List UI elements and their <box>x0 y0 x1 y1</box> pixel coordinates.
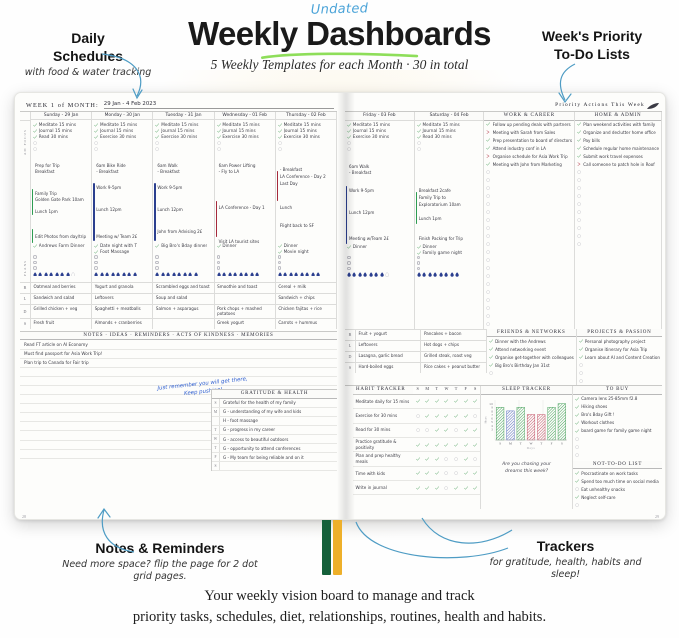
water-drop-empty-icon[interactable] <box>385 272 389 277</box>
empty-circle-icon[interactable] <box>155 255 159 259</box>
priority-item[interactable] <box>484 281 574 289</box>
empty-circle-icon[interactable] <box>217 266 221 270</box>
projects-item[interactable]: Organise itinerary for Asia Trip <box>577 345 662 353</box>
priority-item[interactable] <box>484 257 574 265</box>
empty-circle-icon[interactable] <box>486 170 490 174</box>
empty-circle-icon[interactable] <box>486 226 490 230</box>
priority-item[interactable] <box>575 225 661 233</box>
priority-item[interactable] <box>484 273 574 281</box>
habit-name[interactable]: Write in journal <box>353 485 413 491</box>
water-drop-icon[interactable] <box>55 272 59 277</box>
empty-circle-icon[interactable] <box>577 242 581 246</box>
empty-circle-icon[interactable] <box>486 266 490 270</box>
habit-check-cell[interactable] <box>461 486 471 490</box>
meal-cell[interactable]: Pancakes + bacon <box>421 330 486 340</box>
day-header[interactable]: Monday - 30 Jan <box>92 112 152 121</box>
day-schedule[interactable]: 6am Power Lifting- Fly to LALA Conferenc… <box>215 161 275 253</box>
empty-circle-icon[interactable] <box>486 242 490 246</box>
habit-check-cell[interactable] <box>432 399 442 403</box>
day-schedule[interactable]: - BreakfastLA Conference - Day 2Last Day… <box>276 161 336 253</box>
priority-item[interactable]: Pay bills <box>575 137 661 145</box>
gratitude-text[interactable]: G - access to beautiful outdoors <box>220 435 337 443</box>
empty-circle-icon[interactable] <box>575 487 579 491</box>
habit-check-cell[interactable] <box>422 428 432 432</box>
to-buy-item[interactable]: Camera lens 25-85mm f2.8 <box>573 395 662 403</box>
habit-check-cell[interactable] <box>413 399 423 403</box>
habit-name[interactable]: Time with kids <box>353 471 413 477</box>
priority-item[interactable]: Follow up pending deals with partners <box>484 121 574 129</box>
habit-check-cell[interactable] <box>442 399 452 403</box>
priority-item[interactable] <box>484 265 574 273</box>
water-drop-icon[interactable] <box>428 272 432 277</box>
meal-cell[interactable] <box>153 319 214 329</box>
water-tracker-row[interactable] <box>278 272 334 277</box>
empty-circle-icon[interactable] <box>94 255 98 259</box>
habit-check-cell[interactable] <box>451 443 461 447</box>
water-drop-icon[interactable] <box>38 272 42 277</box>
not-to-do-item[interactable] <box>573 501 662 509</box>
empty-circle-icon[interactable] <box>416 428 420 432</box>
empty-circle-icon[interactable] <box>278 255 282 259</box>
habit-check-cell[interactable] <box>422 471 432 475</box>
water-drop-icon[interactable] <box>49 272 53 277</box>
habit-check-cell[interactable] <box>461 428 471 432</box>
meal-cell[interactable]: Grilled chicken + veg <box>31 305 92 318</box>
priority-item[interactable] <box>484 209 574 217</box>
to-buy-item[interactable] <box>573 443 662 451</box>
priority-item[interactable] <box>575 193 661 201</box>
priority-item[interactable] <box>575 209 661 217</box>
empty-circle-icon[interactable] <box>278 141 282 145</box>
friends-item[interactable]: Organise get-together with colleagues <box>487 353 576 361</box>
empty-circle-icon[interactable] <box>417 141 421 145</box>
task-item[interactable] <box>278 146 334 152</box>
empty-circle-icon[interactable] <box>486 250 490 254</box>
day-schedule[interactable]: Breakfast 2cafeFamily Trip toExploratori… <box>415 162 484 254</box>
empty-circle-icon[interactable] <box>577 202 581 206</box>
priority-item[interactable] <box>575 177 661 185</box>
water-tracker-row[interactable] <box>347 272 412 277</box>
circle-row[interactable] <box>33 265 89 271</box>
water-tracker-row[interactable] <box>33 272 89 277</box>
habit-check-cell[interactable] <box>461 399 471 403</box>
day-header[interactable]: Sunday - 29 Jan <box>31 112 91 121</box>
empty-circle-icon[interactable] <box>217 255 221 259</box>
habit-check-cell[interactable] <box>451 457 461 461</box>
water-drop-icon[interactable] <box>289 272 293 277</box>
meal-cell[interactable]: Lasagna, garlic bread <box>356 352 421 362</box>
empty-circle-icon[interactable] <box>577 186 581 190</box>
meal-cell[interactable]: Oatmeal and berries <box>31 283 92 293</box>
empty-circle-icon[interactable] <box>486 258 490 262</box>
water-drop-icon[interactable] <box>305 272 309 277</box>
habit-check-cell[interactable] <box>413 414 423 418</box>
habit-check-cell[interactable] <box>442 486 452 490</box>
empty-circle-icon[interactable] <box>278 266 282 270</box>
note-line[interactable]: Must find passport for Asia Work Trip! <box>20 350 337 359</box>
meal-cell[interactable]: Fruit + yogurt <box>356 330 421 340</box>
habit-check-cell[interactable] <box>470 428 480 432</box>
circle-row[interactable] <box>94 265 150 271</box>
gratitude-text[interactable] <box>220 462 337 470</box>
empty-circle-icon[interactable] <box>486 234 490 238</box>
note-line[interactable]: Read FT article on AI Economy <box>20 340 337 349</box>
water-drop-icon[interactable] <box>380 272 384 277</box>
habit-check-cell[interactable] <box>422 399 432 403</box>
empty-circle-icon[interactable] <box>486 298 490 302</box>
day-schedule[interactable]: Prep for TripBreakfastFamily TripGolden … <box>31 161 91 253</box>
empty-circle-icon[interactable] <box>454 457 458 461</box>
empty-circle-icon[interactable] <box>577 170 581 174</box>
water-drop-icon[interactable] <box>374 272 378 277</box>
meal-cell[interactable]: Grilled steak, roast veg <box>421 352 486 362</box>
priority-item[interactable]: Schedule regular home maintenance <box>575 145 661 153</box>
meal-cell[interactable]: Hot dogs + chips <box>421 341 486 351</box>
empty-circle-icon[interactable] <box>416 414 420 418</box>
priority-item[interactable] <box>484 305 574 313</box>
habit-check-cell[interactable] <box>432 486 442 490</box>
water-drop-icon[interactable] <box>278 272 282 277</box>
gratitude-text[interactable]: G - opportunity to attend conferences <box>220 444 337 452</box>
empty-circle-icon[interactable] <box>575 445 579 449</box>
to-buy-item[interactable] <box>573 435 662 443</box>
water-drop-icon[interactable] <box>116 272 120 277</box>
projects-item[interactable]: Personal photography project <box>577 337 662 345</box>
water-drop-icon[interactable] <box>177 272 181 277</box>
empty-circle-icon[interactable] <box>444 471 448 475</box>
habit-check-cell[interactable] <box>470 399 480 403</box>
water-drop-icon[interactable] <box>250 272 254 277</box>
empty-circle-icon[interactable] <box>579 371 583 375</box>
priority-item[interactable] <box>484 321 574 329</box>
empty-circle-icon[interactable] <box>347 261 351 265</box>
empty-circle-icon[interactable] <box>577 194 581 198</box>
water-drop-icon[interactable] <box>194 272 198 277</box>
priority-item[interactable]: Attend industry conf in LA <box>484 145 574 153</box>
not-to-do-item[interactable]: Procrastinate on work tasks <box>573 469 662 477</box>
habit-name[interactable]: Plan and prep healthy meals <box>353 453 413 464</box>
water-drop-icon[interactable] <box>352 272 356 277</box>
empty-circle-icon[interactable] <box>417 147 421 151</box>
circle-row[interactable] <box>155 265 211 271</box>
water-drop-icon[interactable] <box>44 272 48 277</box>
water-drop-icon[interactable] <box>316 272 320 277</box>
day-header[interactable]: Wednesday - 01 Feb <box>215 112 275 121</box>
water-tracker-row[interactable] <box>217 272 273 277</box>
meal-cell[interactable]: Salmon + asparagus <box>153 305 214 318</box>
empty-circle-icon[interactable] <box>486 202 490 206</box>
gratitude-text[interactable]: G - understanding of my wife and kids <box>220 408 337 416</box>
water-drop-icon[interactable] <box>294 272 298 277</box>
meal-cell[interactable]: Rice cakes + peanut butter <box>421 363 486 373</box>
not-to-do-item[interactable]: Neglect self-care <box>573 493 662 501</box>
empty-circle-icon[interactable] <box>155 266 159 270</box>
empty-circle-icon[interactable] <box>473 414 477 418</box>
water-drop-icon[interactable] <box>217 272 221 277</box>
water-tracker-row[interactable] <box>155 272 211 277</box>
projects-item[interactable] <box>577 369 662 377</box>
meal-cell[interactable]: Smoothie and toast <box>215 283 276 293</box>
friends-item[interactable]: Dinner with the Andrews <box>487 337 576 345</box>
empty-circle-icon[interactable] <box>486 178 490 182</box>
day-schedule[interactable]: 6am Walk- BreakfastWork 9-5pmLunch 12pmM… <box>345 162 414 254</box>
water-drop-icon[interactable] <box>233 272 237 277</box>
meal-cell[interactable]: Almonds + cranberries <box>92 319 153 329</box>
water-drop-icon[interactable] <box>239 272 243 277</box>
priority-item[interactable] <box>484 297 574 305</box>
empty-circle-icon[interactable] <box>486 194 490 198</box>
water-drop-icon[interactable] <box>244 272 248 277</box>
habit-check-cell[interactable] <box>432 428 442 432</box>
water-drop-icon[interactable] <box>111 272 115 277</box>
empty-circle-icon[interactable] <box>155 261 159 265</box>
priority-item[interactable] <box>484 249 574 257</box>
water-drop-icon[interactable] <box>60 272 64 277</box>
meal-cell[interactable]: Yogurt and granola <box>92 283 153 293</box>
empty-circle-icon[interactable] <box>486 306 490 310</box>
water-drop-icon[interactable] <box>283 272 287 277</box>
priority-item[interactable] <box>484 193 574 201</box>
water-drop-icon[interactable] <box>444 272 448 277</box>
note-line[interactable] <box>20 368 337 377</box>
gratitude-text[interactable]: H - foot massage <box>220 417 337 425</box>
empty-circle-icon[interactable] <box>347 267 351 271</box>
water-drop-icon[interactable] <box>188 272 192 277</box>
meal-cell[interactable]: Scrambled eggs and toast <box>153 283 214 293</box>
empty-circle-icon[interactable] <box>577 234 581 238</box>
empty-circle-icon[interactable] <box>417 256 421 260</box>
meal-cell[interactable]: Leftovers <box>92 294 153 304</box>
day-schedule[interactable]: 6am Bike Ride- BreakfastWork 9-5pmLunch … <box>92 161 152 253</box>
habit-check-cell[interactable] <box>432 471 442 475</box>
empty-circle-icon[interactable] <box>33 255 37 259</box>
circle-row[interactable] <box>217 265 273 271</box>
priority-item[interactable] <box>575 201 661 209</box>
projects-item[interactable] <box>577 361 662 369</box>
evening-task[interactable]: Dinner <box>347 244 367 250</box>
priority-item[interactable] <box>484 185 574 193</box>
empty-circle-icon[interactable] <box>94 261 98 265</box>
to-buy-item[interactable]: Bro's Bday Gift ! <box>573 411 662 419</box>
empty-circle-icon[interactable] <box>577 218 581 222</box>
empty-circle-icon[interactable] <box>486 282 490 286</box>
meal-cell[interactable]: Leftovers <box>356 341 421 351</box>
water-drop-icon[interactable] <box>33 272 37 277</box>
empty-circle-icon[interactable] <box>579 379 583 383</box>
water-drop-icon[interactable] <box>127 272 131 277</box>
empty-circle-icon[interactable] <box>94 266 98 270</box>
habit-check-cell[interactable] <box>470 486 480 490</box>
water-drop-icon[interactable] <box>222 272 226 277</box>
meal-cell[interactable]: Greek yogurt <box>215 319 276 329</box>
friends-item[interactable] <box>487 369 576 377</box>
empty-circle-icon[interactable] <box>417 267 421 271</box>
water-drop-icon[interactable] <box>358 272 362 277</box>
habit-check-cell[interactable] <box>451 414 461 418</box>
water-drop-icon[interactable] <box>255 272 259 277</box>
empty-circle-icon[interactable] <box>33 261 37 265</box>
priority-item[interactable] <box>484 233 574 241</box>
day-schedule[interactable]: 6am Walk- BreakfastWork 9-5pmLunch 12pmJ… <box>153 161 213 253</box>
empty-circle-icon[interactable] <box>155 147 159 151</box>
empty-circle-icon[interactable] <box>33 141 37 145</box>
habit-check-cell[interactable] <box>442 457 452 461</box>
water-drop-icon[interactable] <box>363 272 367 277</box>
empty-circle-icon[interactable] <box>575 503 579 507</box>
empty-circle-icon[interactable] <box>577 178 581 182</box>
water-drop-icon[interactable] <box>100 272 104 277</box>
empty-circle-icon[interactable] <box>486 314 490 318</box>
empty-circle-icon[interactable] <box>577 210 581 214</box>
meal-cell[interactable] <box>215 294 276 304</box>
task-item[interactable] <box>155 146 211 152</box>
gratitude-text[interactable]: G - My team for being reliable and on it <box>220 453 337 461</box>
not-to-do-item[interactable]: Spend too much time on social media <box>573 477 662 485</box>
habit-check-cell[interactable] <box>451 471 461 475</box>
priority-item[interactable] <box>575 217 661 225</box>
evening-task[interactable]: Big Bro's Bday dinner <box>155 243 207 249</box>
habit-check-cell[interactable] <box>461 457 471 461</box>
habit-check-cell[interactable] <box>461 471 471 475</box>
day-header[interactable]: Friday - 03 Feb <box>345 112 414 121</box>
habit-check-cell[interactable] <box>413 457 423 461</box>
empty-circle-icon[interactable] <box>347 141 351 145</box>
empty-circle-icon[interactable] <box>454 428 458 432</box>
empty-circle-icon[interactable] <box>489 371 493 375</box>
empty-circle-icon[interactable] <box>577 226 581 230</box>
empty-circle-icon[interactable] <box>486 290 490 294</box>
habit-check-cell[interactable] <box>413 443 423 447</box>
day-header[interactable]: Thursday - 02 Feb <box>276 112 336 121</box>
habit-check-cell[interactable] <box>461 414 471 418</box>
water-drop-icon[interactable] <box>105 272 109 277</box>
empty-circle-icon[interactable] <box>33 266 37 270</box>
water-drop-icon[interactable] <box>417 272 421 277</box>
empty-circle-icon[interactable] <box>217 147 221 151</box>
friends-item[interactable]: Attend networking event <box>487 345 576 353</box>
habit-check-cell[interactable] <box>422 457 432 461</box>
priority-item[interactable] <box>484 289 574 297</box>
water-drop-icon[interactable] <box>455 272 459 277</box>
empty-circle-icon[interactable] <box>454 471 458 475</box>
water-drop-icon[interactable] <box>133 272 137 277</box>
water-drop-icon[interactable] <box>166 272 170 277</box>
habit-check-cell[interactable] <box>442 428 452 432</box>
meal-cell[interactable]: Hard-boiled eggs <box>356 363 421 373</box>
note-line[interactable]: Plan trip to Canada for Fair trip <box>20 359 337 368</box>
circle-row[interactable] <box>417 266 482 272</box>
habit-check-cell[interactable] <box>422 486 432 490</box>
circle-row[interactable] <box>347 266 412 272</box>
water-drop-icon[interactable] <box>161 272 165 277</box>
habit-check-cell[interactable] <box>432 443 442 447</box>
empty-circle-icon[interactable] <box>486 322 490 326</box>
water-drop-icon[interactable] <box>369 272 373 277</box>
priority-item[interactable]: Plan weekend activities with family <box>575 121 661 129</box>
meal-cell[interactable]: Sandwich + chips <box>276 294 337 304</box>
to-buy-item[interactable]: Workout clothes <box>573 419 662 427</box>
water-drop-icon[interactable] <box>422 272 426 277</box>
priority-item[interactable] <box>484 169 574 177</box>
water-drop-icon[interactable] <box>228 272 232 277</box>
priority-item[interactable] <box>484 241 574 249</box>
water-drop-icon[interactable] <box>66 272 70 277</box>
meal-cell[interactable]: Cereal + milk <box>276 283 337 293</box>
priority-item[interactable] <box>484 313 574 321</box>
priority-item[interactable] <box>575 169 661 177</box>
habit-check-cell[interactable] <box>432 457 442 461</box>
empty-circle-icon[interactable] <box>217 141 221 145</box>
evening-task[interactable]: Dinner <box>217 243 237 249</box>
habit-check-cell[interactable] <box>442 414 452 418</box>
habit-check-cell[interactable] <box>451 428 461 432</box>
empty-circle-icon[interactable] <box>217 261 221 265</box>
water-drop-icon[interactable] <box>155 272 159 277</box>
empty-circle-icon[interactable] <box>417 261 421 265</box>
circle-row[interactable] <box>278 265 334 271</box>
evening-task[interactable]: Family game night <box>417 250 462 256</box>
meal-cell[interactable]: Fresh fruit <box>31 319 92 329</box>
habit-check-cell[interactable] <box>413 428 423 432</box>
empty-circle-icon[interactable] <box>486 210 490 214</box>
priority-item[interactable] <box>575 241 661 249</box>
empty-circle-icon[interactable] <box>444 457 448 461</box>
evening-task[interactable]: Movie night <box>278 249 309 255</box>
empty-circle-icon[interactable] <box>444 486 448 490</box>
habit-check-cell[interactable] <box>470 457 480 461</box>
to-buy-item[interactable] <box>573 451 662 459</box>
water-drop-icon[interactable] <box>433 272 437 277</box>
priority-item[interactable] <box>484 225 574 233</box>
water-drop-icon[interactable] <box>300 272 304 277</box>
task-item[interactable] <box>94 146 150 152</box>
friends-item[interactable]: Big Bro's Birthday Jan 31st <box>487 361 576 369</box>
priority-item[interactable] <box>484 177 574 185</box>
water-tracker-row[interactable] <box>417 272 482 277</box>
habit-check-cell[interactable] <box>442 471 452 475</box>
empty-circle-icon[interactable] <box>347 256 351 260</box>
evening-task[interactable]: Andrews Farm Dinner <box>33 243 85 249</box>
habit-check-cell[interactable] <box>442 443 452 447</box>
gratitude-text[interactable]: G - progress in my career <box>220 426 337 434</box>
to-buy-item[interactable]: Hiking shoes <box>573 403 662 411</box>
empty-circle-icon[interactable] <box>94 141 98 145</box>
empty-circle-icon[interactable] <box>486 186 490 190</box>
habit-check-cell[interactable] <box>422 443 432 447</box>
empty-circle-icon[interactable] <box>575 453 579 457</box>
priority-item[interactable]: Meeting with Sarah from Sales <box>484 129 574 137</box>
evening-task[interactable]: Foot Massage <box>94 249 129 255</box>
habit-check-cell[interactable] <box>413 471 423 475</box>
habit-check-cell[interactable] <box>470 471 480 475</box>
day-header[interactable]: Saturday - 04 Feb <box>415 112 484 121</box>
meal-cell[interactable]: Pork chops + mashed potatoes <box>215 305 276 318</box>
priority-item[interactable] <box>575 185 661 193</box>
habit-check-cell[interactable] <box>470 443 480 447</box>
meal-cell[interactable]: Spaghetti + meatballs <box>92 305 153 318</box>
water-drop-icon[interactable] <box>94 272 98 277</box>
empty-circle-icon[interactable] <box>155 141 159 145</box>
habit-check-cell[interactable] <box>470 414 480 418</box>
gratitude-text[interactable]: Grateful for the health of my family <box>220 399 337 407</box>
water-drop-icon[interactable] <box>172 272 176 277</box>
water-drop-icon[interactable] <box>439 272 443 277</box>
priority-item[interactable]: Organize and declutter home office <box>575 129 661 137</box>
water-drop-icon[interactable] <box>347 272 351 277</box>
meal-cell[interactable]: Sandwich and salad <box>31 294 92 304</box>
task-item[interactable] <box>33 146 89 152</box>
priority-item[interactable] <box>484 201 574 209</box>
